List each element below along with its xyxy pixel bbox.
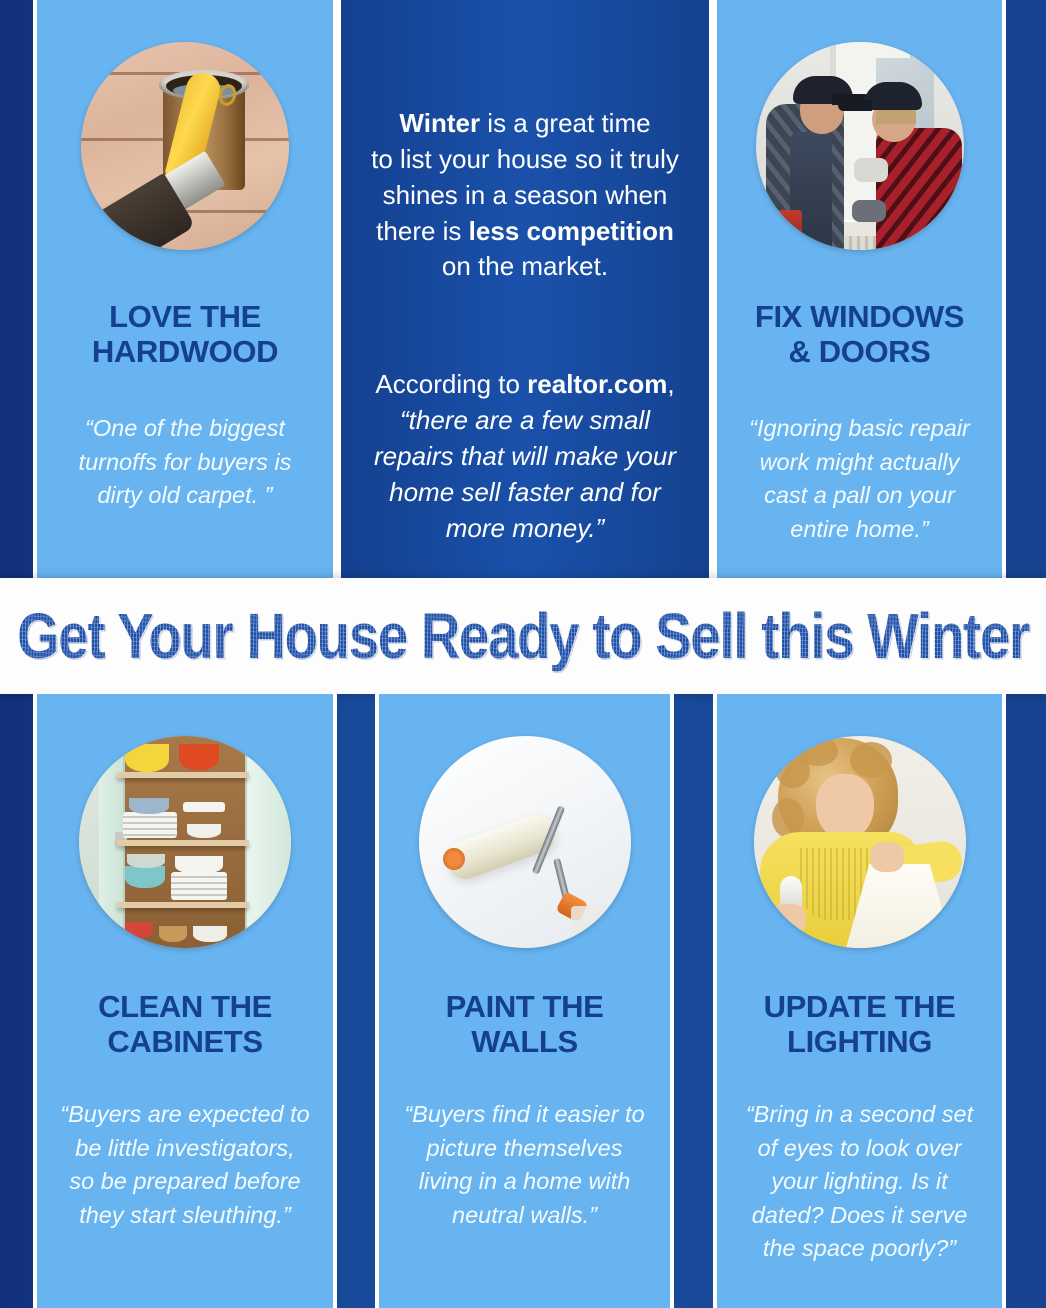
- center-lede-post: on the market.: [442, 251, 608, 281]
- card-quote: “Bring in a second set of eyes to look o…: [731, 1098, 988, 1266]
- card-paint-the-walls: PAINT THE WALLS “Buyers find it easier t…: [375, 694, 674, 1308]
- card-title: FIX WINDOWS & DOORS: [717, 300, 1002, 369]
- card-title: UPDATE THE LIGHTING: [717, 990, 1002, 1059]
- card-quote: “Buyers are expected to be little invest…: [51, 1098, 319, 1232]
- center-attrib-pre: According to: [375, 369, 527, 399]
- center-quote: “there are a few small repairs that will…: [359, 403, 691, 547]
- card-fix-windows-and-doors: FIX WINDOWS & DOORS “Ignoring basic repa…: [713, 0, 1006, 578]
- infographic-root: LOVE THE HARDWOOD “One of the biggest tu…: [0, 0, 1046, 1308]
- center-lede-bold-less-competition: less competition: [469, 216, 674, 246]
- bottom-section: CLEAN THE CABINETS “Buyers are expected …: [0, 694, 1046, 1308]
- center-statistics-panel: Winter is a great time to list your hous…: [337, 0, 713, 578]
- two-workmen-repairing-window-photo: [756, 42, 964, 250]
- woman-changing-lampshade-bulb-photo: [754, 736, 966, 948]
- card-update-the-lighting: UPDATE THE LIGHTING “Bring in a second s…: [713, 694, 1006, 1308]
- paint-brush-and-can-on-wood-photo: [81, 42, 289, 250]
- card-clean-the-cabinets: CLEAN THE CABINETS “Buyers are expected …: [33, 694, 337, 1308]
- center-attrib-source-name: realtor.com: [527, 369, 667, 399]
- center-attrib-post: ,: [667, 369, 674, 399]
- card-love-the-hardwood: LOVE THE HARDWOOD “One of the biggest tu…: [33, 0, 337, 578]
- card-quote: “Ignoring basic repair work might actual…: [731, 412, 988, 546]
- card-title: CLEAN THE CABINETS: [37, 990, 333, 1059]
- center-lede: Winter is a great time to list your hous…: [359, 70, 691, 285]
- card-title: PAINT THE WALLS: [379, 990, 670, 1059]
- open-kitchen-cabinet-with-dishes-photo: [79, 736, 291, 948]
- banner-title: Get Your House Ready to Sell this Winter: [17, 599, 1029, 673]
- card-quote: “One of the biggest turnoffs for buyers …: [51, 412, 319, 513]
- banner: Get Your House Ready to Sell this Winter: [0, 578, 1046, 694]
- center-attribution: According to realtor.com,: [359, 331, 691, 403]
- card-quote: “Buyers find it easier to picture themse…: [393, 1098, 656, 1232]
- card-title: LOVE THE HARDWOOD: [37, 300, 333, 369]
- top-section: LOVE THE HARDWOOD “One of the biggest tu…: [0, 0, 1046, 578]
- center-lede-bold-winter: Winter: [399, 108, 480, 138]
- paint-roller-on-white-wall-photo: [419, 736, 631, 948]
